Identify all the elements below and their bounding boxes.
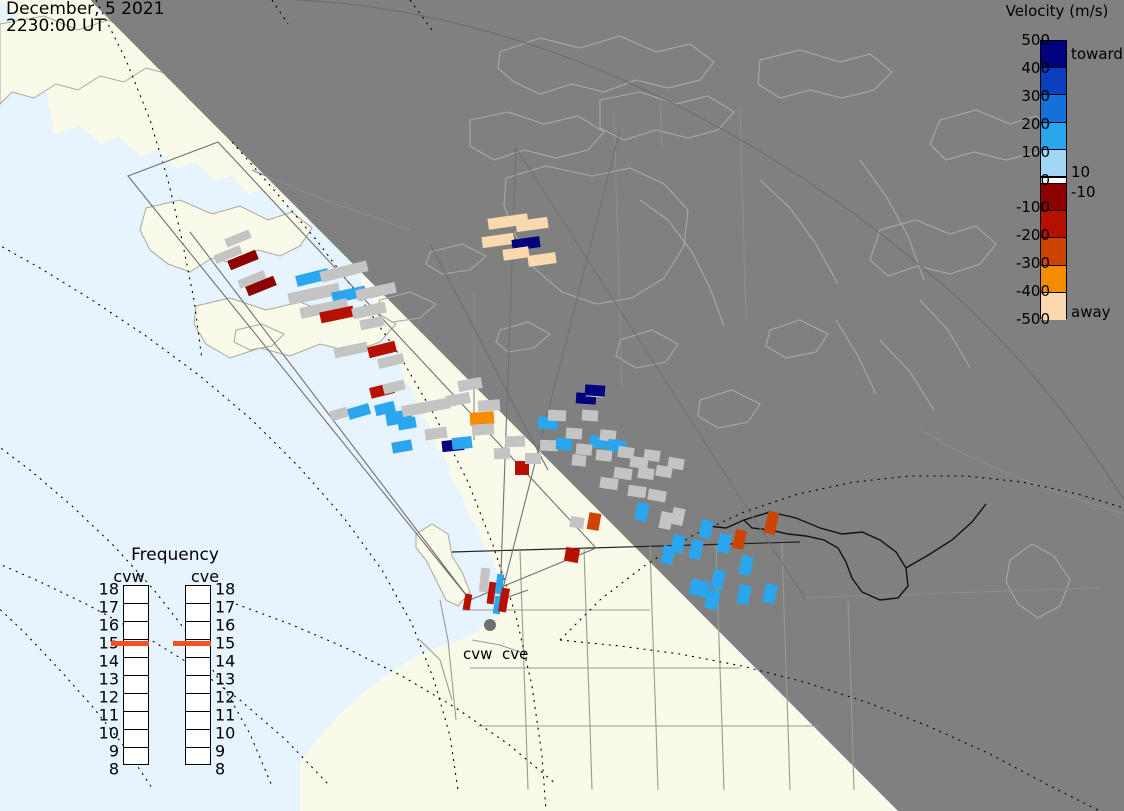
colorbar-tick-neg500: -500 — [1016, 310, 1050, 328]
frequency-legend-title: Frequency — [95, 545, 255, 565]
radar-cell-velocity — [451, 436, 472, 450]
frequency-tick-cvw-17: 17 — [99, 598, 119, 617]
frequency-cell — [186, 676, 210, 694]
frequency-tick-cvw-8: 8 — [109, 760, 119, 779]
frequency-tick-cvw-18: 18 — [99, 580, 119, 599]
frequency-tick-cve-13: 13 — [215, 670, 235, 689]
radar-station-marker — [484, 619, 496, 631]
colorbar-tick-300: 300 — [1021, 87, 1050, 105]
frequency-cell — [186, 658, 210, 676]
station-label-cve: cve — [502, 645, 528, 663]
frequency-cell — [124, 694, 148, 712]
colorbar-tick-0: 0 — [1040, 171, 1050, 189]
colorbar-toward-label: toward — [1071, 45, 1123, 63]
radar-cell-nodata — [478, 399, 501, 412]
frequency-tick-cvw-9: 9 — [109, 742, 119, 761]
frequency-bar-cve — [185, 585, 211, 765]
colorbar-title: Velocity (m/s) — [993, 2, 1121, 20]
frequency-tick-cvw-11: 11 — [99, 706, 119, 725]
radar-cell-nodata — [505, 436, 525, 448]
frequency-tick-cvw-14: 14 — [99, 652, 119, 671]
frequency-bar-cvw — [123, 585, 149, 765]
radar-cell-nodata — [548, 410, 566, 422]
frequency-cell — [186, 748, 210, 766]
frequency-tick-cvw-13: 13 — [99, 670, 119, 689]
frequency-tick-cve-16: 16 — [215, 616, 235, 635]
frequency-cell — [186, 694, 210, 712]
frequency-cell — [124, 586, 148, 604]
frequency-cell — [124, 676, 148, 694]
colorbar-neg-threshold-label: -10 — [1071, 183, 1096, 201]
frequency-tick-cve-12: 12 — [215, 688, 235, 707]
colorbar-tick-200: 200 — [1021, 115, 1050, 133]
frequency-legend: Frequency cvw 18171615141312111098 cve 1… — [95, 545, 255, 780]
radar-cell-nodata — [566, 427, 583, 439]
station-label-cvw: cvw — [463, 645, 492, 663]
frequency-cell — [186, 730, 210, 748]
radar-cell-velocity — [556, 437, 573, 450]
radar-cell-nodata — [575, 443, 592, 456]
frequency-column-cvw: cvw 18171615141312111098 — [97, 567, 161, 765]
frequency-tick-cve-14: 14 — [215, 652, 235, 671]
frequency-tick-cve-17: 17 — [215, 598, 235, 617]
frequency-cell — [124, 712, 148, 730]
colorbar-tick-neg200: -200 — [1016, 226, 1050, 244]
colorbar-tick-neg300: -300 — [1016, 254, 1050, 272]
frequency-cell — [124, 622, 148, 640]
frequency-tick-cvw-10: 10 — [99, 724, 119, 743]
frequency-tick-cve-15: 15 — [215, 634, 235, 653]
frequency-cell — [186, 604, 210, 622]
frequency-tick-cvw-12: 12 — [99, 688, 119, 707]
radar-cell-nodata — [643, 449, 660, 462]
colorbar-pos-threshold-label: 10 — [1071, 163, 1090, 181]
time-label: 2230:00 UT — [6, 18, 164, 35]
radar-cell-nodata — [595, 449, 612, 462]
frequency-cell — [186, 586, 210, 604]
radar-cell-nodata — [637, 467, 654, 480]
colorbar-tick-100: 100 — [1021, 143, 1050, 161]
radar-cell-velocity — [564, 547, 580, 563]
colorbar-tick-400: 400 — [1021, 59, 1050, 77]
radar-map-figure: December, 5 2021 2230:00 UT Velocity (m/… — [0, 0, 1124, 811]
radar-cell-nodata — [540, 440, 558, 452]
frequency-tick-cvw-16: 16 — [99, 616, 119, 635]
colorbar-tick-500: 500 — [1021, 31, 1050, 49]
frequency-tick-cve-8: 8 — [215, 760, 225, 779]
radar-cell-nodata — [472, 423, 495, 436]
frequency-cell — [124, 748, 148, 766]
velocity-colorbar: Velocity (m/s) 5004003002001000-100-200-… — [985, 0, 1124, 340]
frequency-tick-cve-18: 18 — [215, 580, 235, 599]
colorbar-tick-neg100: -100 — [1016, 198, 1050, 216]
radar-cell-nodata — [582, 409, 599, 421]
frequency-tick-cve-11: 11 — [215, 706, 235, 725]
colorbar-away-label: away — [1071, 303, 1111, 321]
frequency-cell — [186, 712, 210, 730]
colorbar-tick-neg400: -400 — [1016, 282, 1050, 300]
frequency-cell — [124, 604, 148, 622]
radar-cell-nodata — [494, 448, 510, 460]
frequency-column-cve: cve 18171615141312111098 — [173, 567, 237, 765]
timestamp-block: December, 5 2021 2230:00 UT — [6, 1, 164, 35]
radar-cell-nodata — [525, 453, 541, 464]
frequency-cell — [186, 622, 210, 640]
frequency-marker-cve — [173, 641, 211, 646]
radar-cell-velocity — [585, 384, 606, 396]
frequency-tick-cve-10: 10 — [215, 724, 235, 743]
frequency-cell — [124, 730, 148, 748]
frequency-cell — [124, 658, 148, 676]
frequency-tick-cve-9: 9 — [215, 742, 225, 761]
frequency-marker-cvw — [111, 641, 149, 646]
radar-cell-nodata — [571, 454, 586, 466]
